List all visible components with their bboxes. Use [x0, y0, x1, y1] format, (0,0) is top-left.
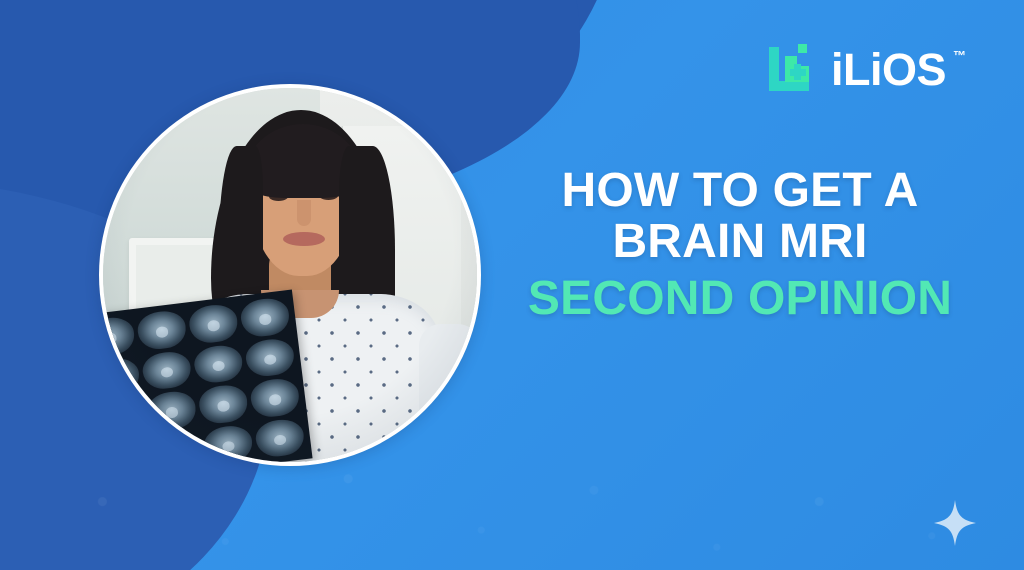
mri-slice: [202, 423, 254, 462]
photo-scene: [103, 88, 477, 462]
photo-sleeve: [419, 324, 477, 444]
thumbnail-canvas: iLiOS ™ HOW TO GET A BRAIN MRI SECOND OP…: [0, 0, 1024, 570]
photo-circle-ring: [99, 84, 481, 466]
mri-slice: [103, 355, 141, 397]
mri-slice: [103, 436, 151, 462]
mri-slice: [146, 389, 198, 431]
four-point-sparkle-icon: [934, 500, 976, 546]
headline-line-1: HOW TO GET A: [496, 166, 984, 217]
headline-line-3: SECOND OPINION: [496, 274, 984, 325]
hero-photo: [103, 88, 477, 462]
headline-line-2: BRAIN MRI: [496, 217, 984, 268]
mri-slice: [151, 429, 203, 462]
brand-logo[interactable]: iLiOS ™: [765, 44, 946, 94]
photo-mri-slice-grid: [103, 296, 306, 462]
brand-logo-text: iLiOS ™: [831, 47, 946, 92]
photo-lips: [283, 232, 325, 246]
mri-slice: [103, 315, 136, 357]
mri-slice: [136, 309, 188, 351]
photo-mri-film-sheet: [103, 289, 313, 462]
mri-slice: [197, 383, 249, 425]
mri-slice: [254, 417, 306, 459]
photo-nose: [297, 200, 311, 226]
mri-slice: [192, 343, 244, 385]
mri-slice: [187, 302, 239, 344]
mri-slice: [249, 377, 301, 419]
mri-slice: [103, 396, 146, 438]
mri-slice: [141, 349, 193, 391]
trademark-symbol: ™: [953, 49, 966, 62]
headline-block: HOW TO GET A BRAIN MRI SECOND OPINION: [496, 166, 984, 325]
ilios-bracket-mark-icon: [765, 44, 817, 94]
mri-slice: [239, 296, 291, 338]
mri-slice: [244, 336, 296, 378]
brand-name: iLiOS: [831, 44, 946, 95]
